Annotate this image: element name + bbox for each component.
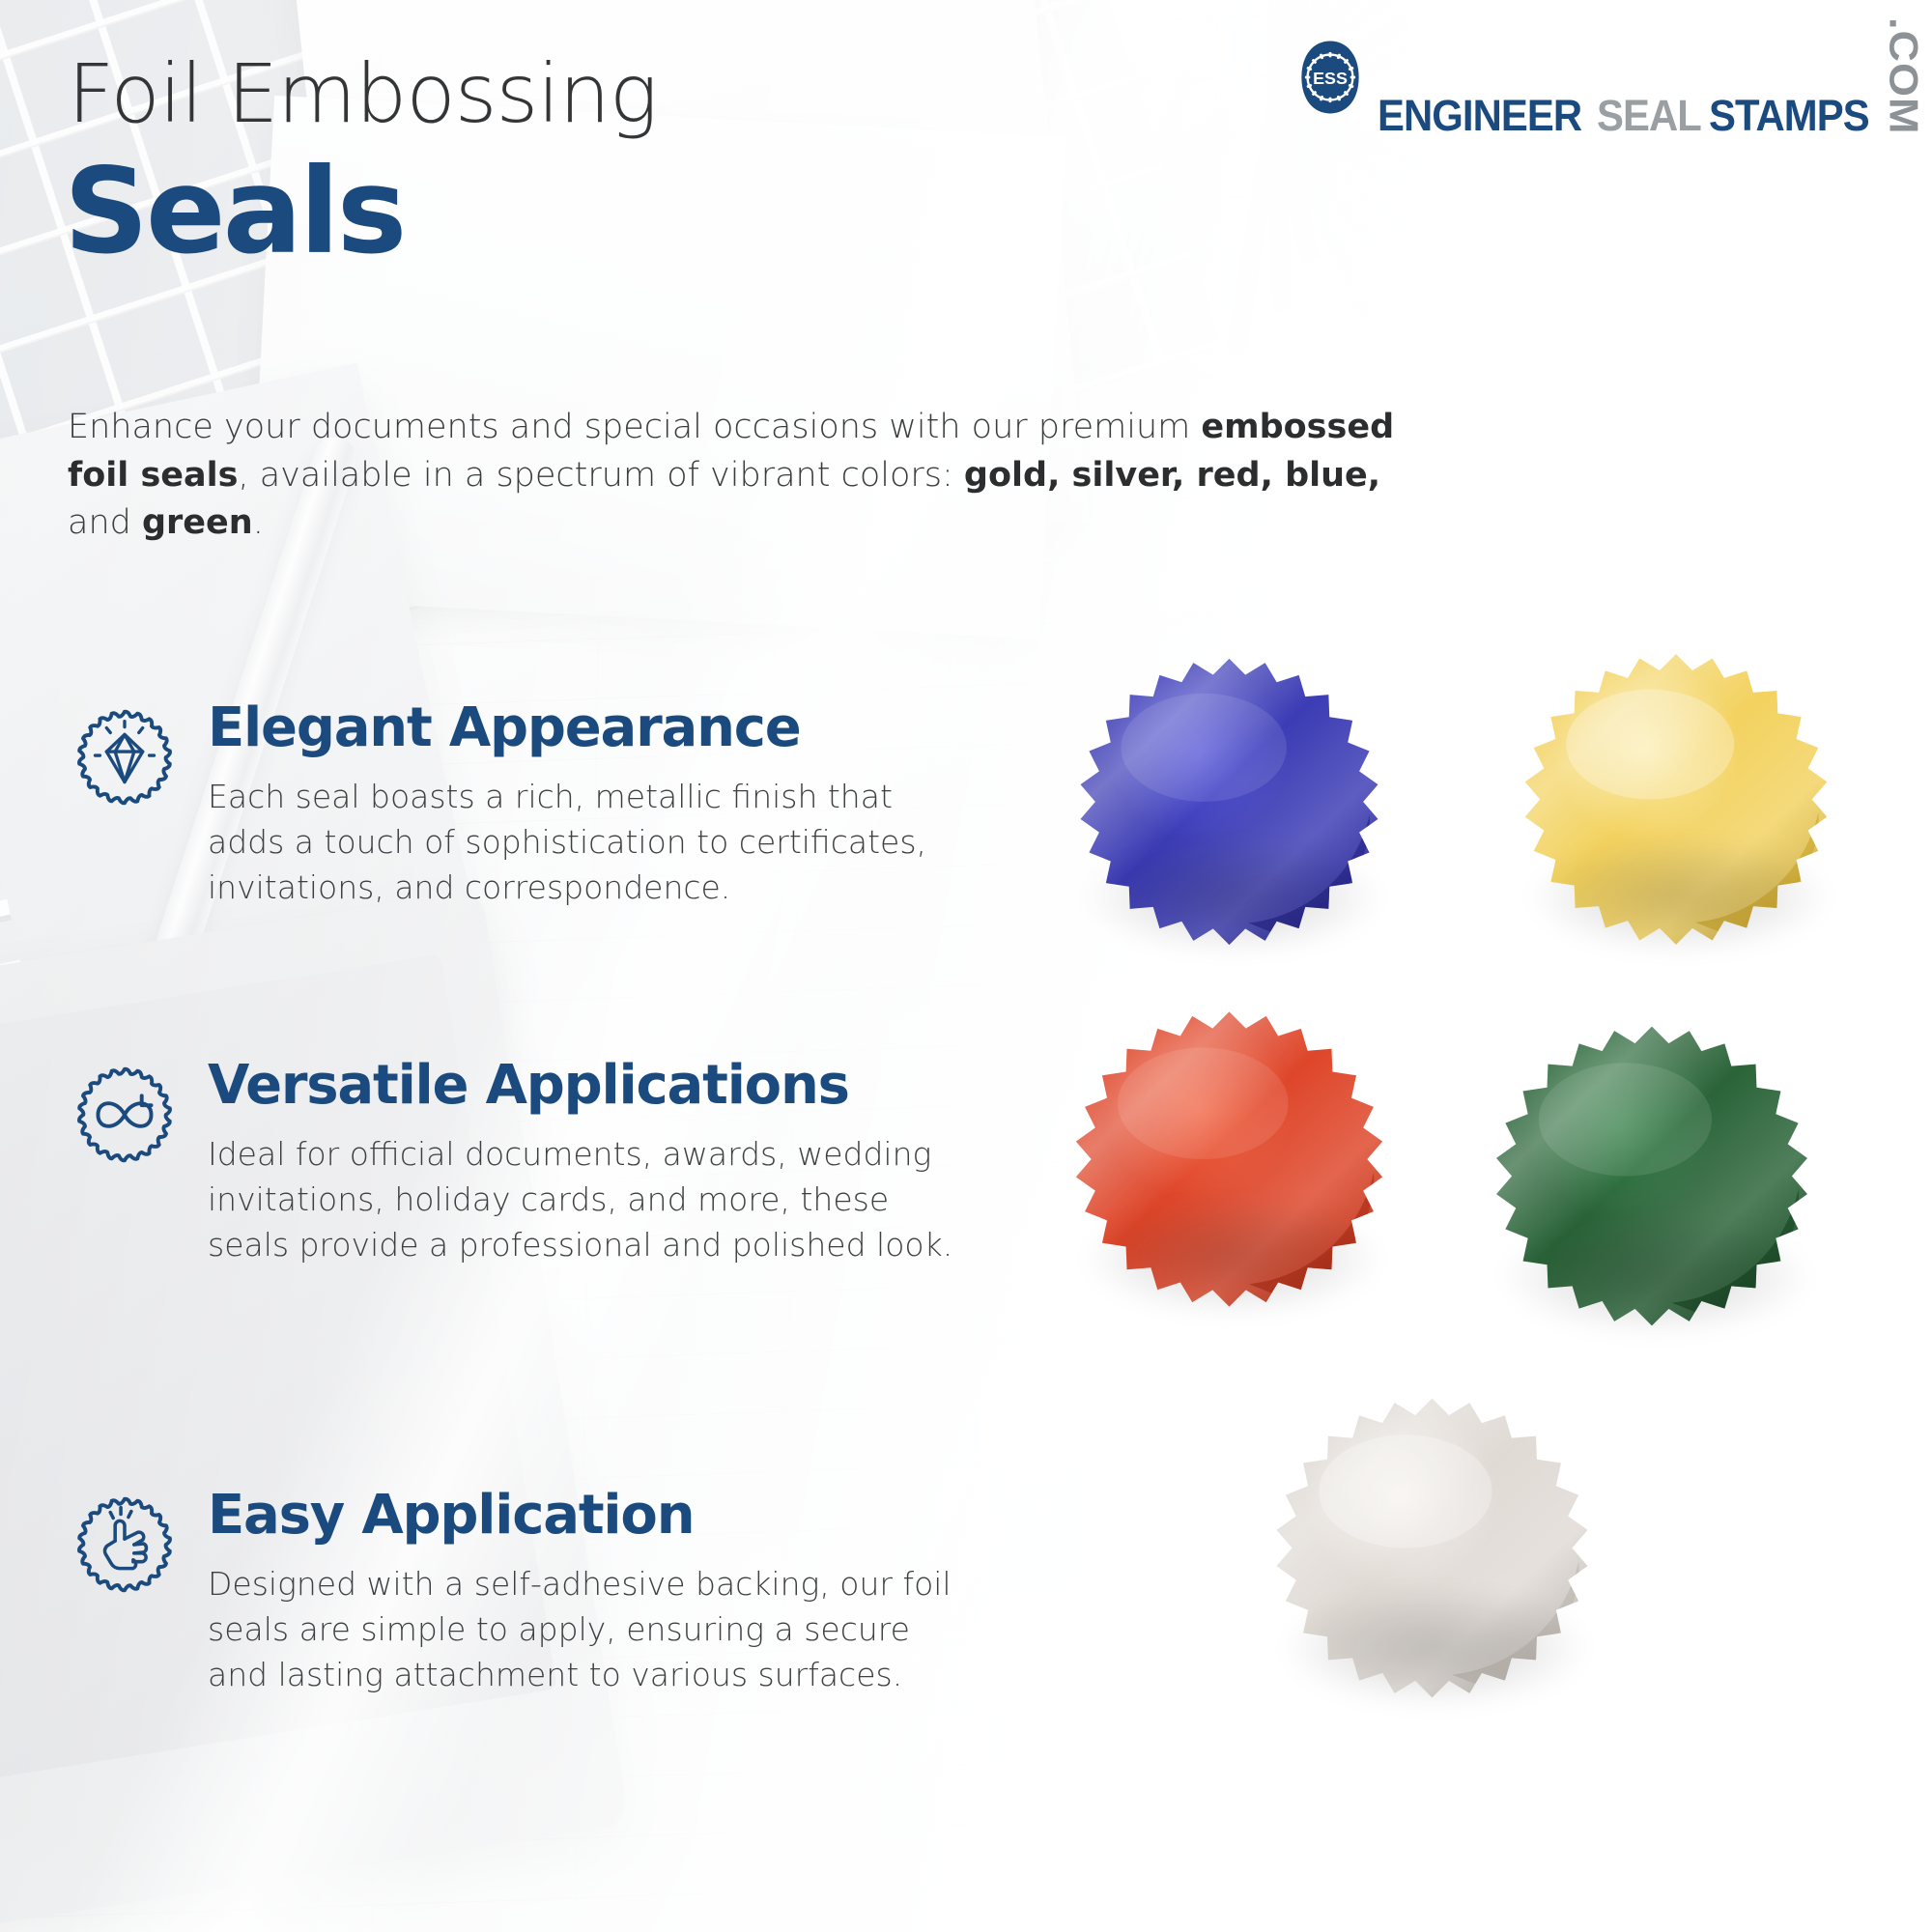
infinity-loop-icon [68, 1058, 182, 1172]
logo-word-seal: SEAL [1597, 94, 1701, 137]
seal-shadow [1085, 840, 1379, 955]
feature-elegant-appearance: Elegant Appearance Each seal boasts a ri… [68, 700, 966, 910]
feature-body: Designed with a self-adhesive backing, o… [208, 1562, 966, 1698]
feature-title: Versatile Applications [208, 1058, 966, 1115]
feature-easy-application: Easy Application Designed with a self-ad… [68, 1488, 966, 1697]
feature-body: Ideal for official documents, awards, we… [208, 1132, 966, 1268]
intro-text-4: . [253, 503, 264, 542]
ess-gear-badge-icon: ESS [1293, 40, 1368, 115]
tapping-hand-icon [68, 1488, 182, 1602]
feature-title: Elegant Appearance [208, 700, 966, 757]
seal-shadow [1284, 1588, 1587, 1708]
seal-shadow [1502, 1216, 1809, 1336]
intro-text-1: Enhance your documents and special occas… [68, 408, 1201, 446]
seal-blue [1058, 642, 1401, 961]
logo-tld: .COM [1884, 17, 1924, 137]
page-title-line-1: Foil Embossing [68, 46, 657, 141]
intro-text-2: , available in a spectrum of vibrant col… [238, 456, 963, 495]
logo-word-engineer: ENGINEER [1378, 94, 1581, 137]
seal-red [1058, 995, 1401, 1323]
seal-gold [1502, 638, 1850, 961]
seal-shadow [1530, 838, 1830, 955]
intro-text-3: and [68, 503, 142, 542]
intro-bold-colors: gold, silver, red, blue, [964, 456, 1380, 495]
logo-mark-text: ESS [1313, 69, 1348, 88]
brand-logo[interactable]: ESS ENGINEER SEAL STAMPS .COM [1293, 17, 1927, 137]
seal-shadow [1085, 1199, 1379, 1317]
logo-word-stamps: STAMPS [1709, 94, 1869, 137]
intro-paragraph: Enhance your documents and special occas… [68, 404, 1439, 548]
diamond-gem-icon [68, 700, 182, 814]
page-title-line-2: Seals [64, 143, 404, 280]
intro-bold-green: green [142, 503, 253, 542]
seal-green [1473, 1009, 1831, 1343]
feature-body: Each seal boasts a rich, metallic finish… [208, 775, 966, 911]
logo-wordmark: ENGINEER SEAL STAMPS .COM [1378, 17, 1927, 137]
feature-title: Easy Application [208, 1488, 966, 1545]
feature-versatile-applications: Versatile Applications Ideal for officia… [68, 1058, 966, 1267]
seal-silver [1256, 1381, 1608, 1715]
infographic-page: ESS ENGINEER SEAL STAMPS .COM Foil Embos… [0, 0, 1932, 1932]
